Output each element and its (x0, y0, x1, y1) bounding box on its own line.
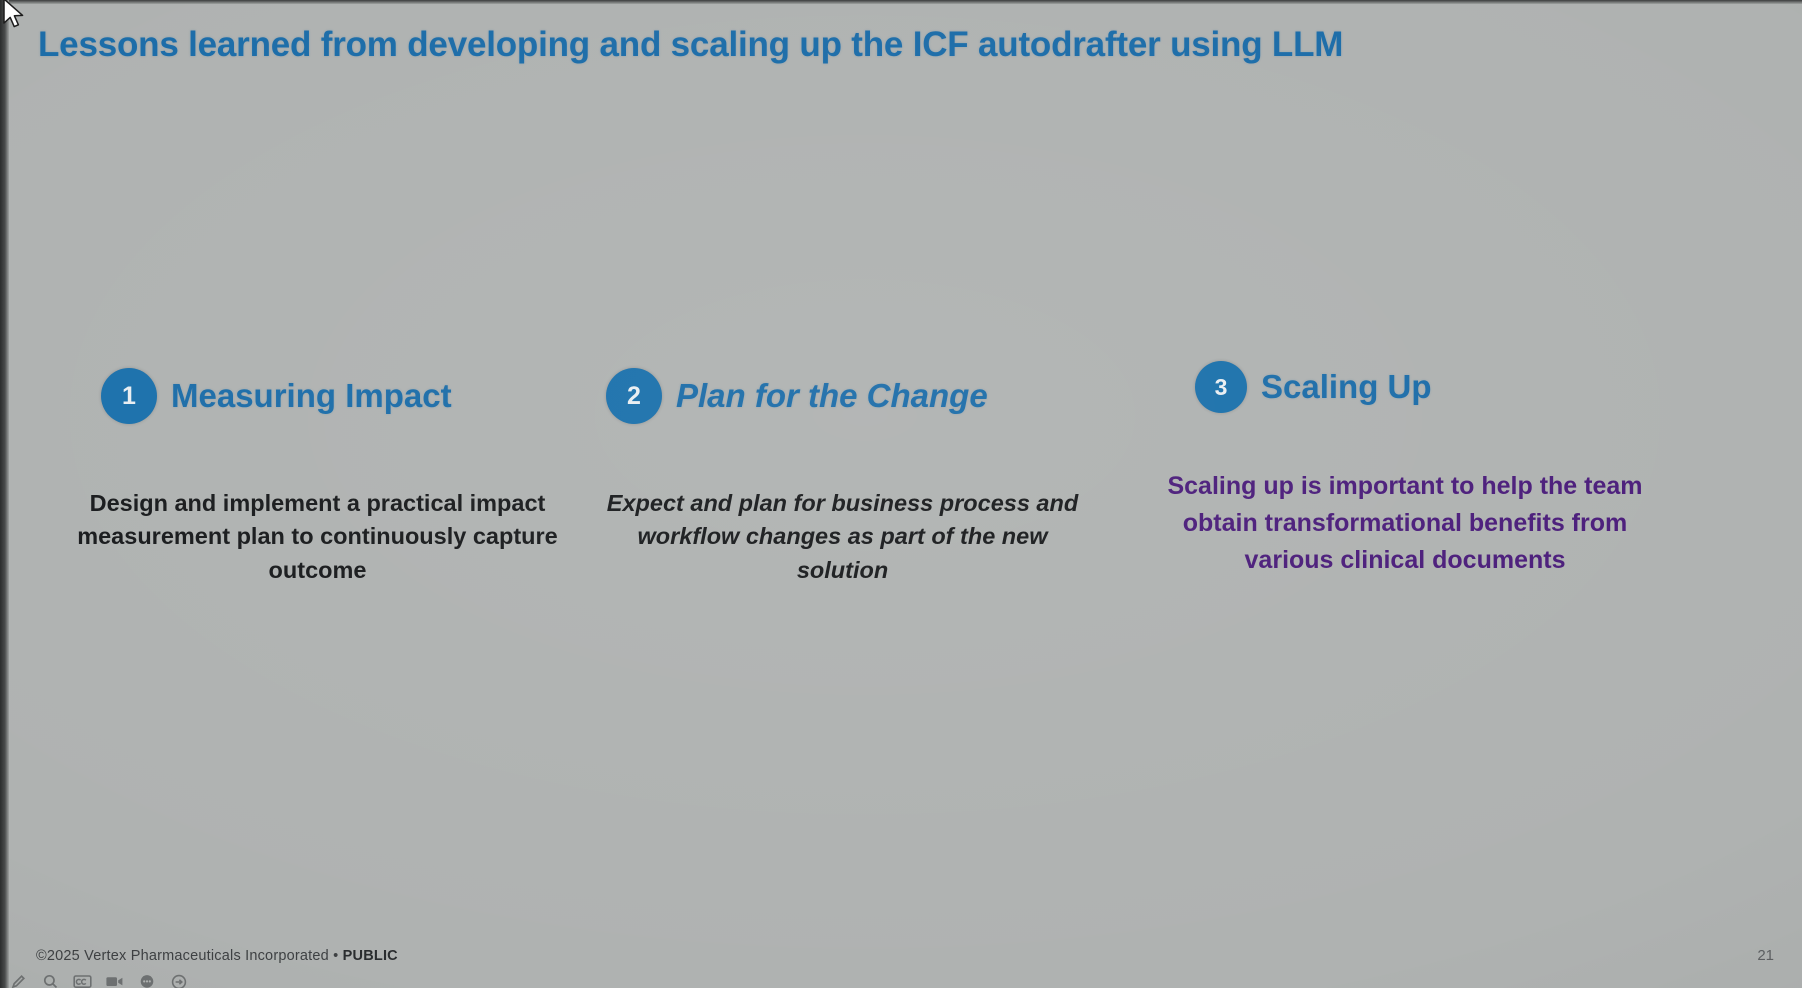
step-number-badge-3: 3 (1195, 361, 1247, 413)
video-icon[interactable] (104, 972, 125, 988)
column-2-heading: Plan for the Change (676, 377, 988, 415)
exit-presentation-icon[interactable] (168, 972, 189, 988)
column-measuring-impact: 1 Measuring Impact Design and implement … (65, 368, 570, 587)
pen-icon[interactable] (8, 972, 29, 988)
slide-page-number: 21 (1757, 947, 1774, 964)
screen-edge-top (0, 0, 1802, 4)
step-number-badge-2: 2 (606, 368, 662, 424)
column-plan-for-the-change: 2 Plan for the Change Expect and plan fo… (590, 368, 1095, 587)
column-3-heading: Scaling Up (1261, 368, 1432, 406)
more-options-icon[interactable] (136, 972, 157, 988)
column-3-body: Scaling up is important to help the team… (1145, 468, 1665, 578)
footer-copyright-text: ©2025 Vertex Pharmaceuticals Incorporate… (36, 948, 343, 964)
footer-copyright: ©2025 Vertex Pharmaceuticals Incorporate… (36, 948, 398, 964)
page-title: Lessons learned from developing and scal… (38, 25, 1598, 65)
column-2-header: 2 Plan for the Change (590, 368, 1095, 424)
column-3-header: 3 Scaling Up (1145, 361, 1665, 413)
column-scaling-up: 3 Scaling Up Scaling up is important to … (1145, 368, 1665, 578)
column-1-header: 1 Measuring Impact (65, 368, 570, 424)
three-column-section: 1 Measuring Impact Design and implement … (40, 368, 1762, 698)
screen-edge-left (0, 0, 9, 988)
closed-caption-icon[interactable] (72, 972, 93, 988)
column-1-heading: Measuring Impact (171, 377, 452, 415)
magnifier-icon[interactable] (40, 972, 61, 988)
presentation-toolbar[interactable] (8, 972, 189, 988)
step-number-badge-1: 1 (101, 368, 157, 424)
presentation-slide: Lessons learned from developing and scal… (0, 0, 1802, 988)
column-1-body: Design and implement a practical impact … (65, 487, 570, 587)
footer-classification-label: PUBLIC (343, 948, 398, 964)
column-2-body: Expect and plan for business process and… (590, 487, 1095, 587)
